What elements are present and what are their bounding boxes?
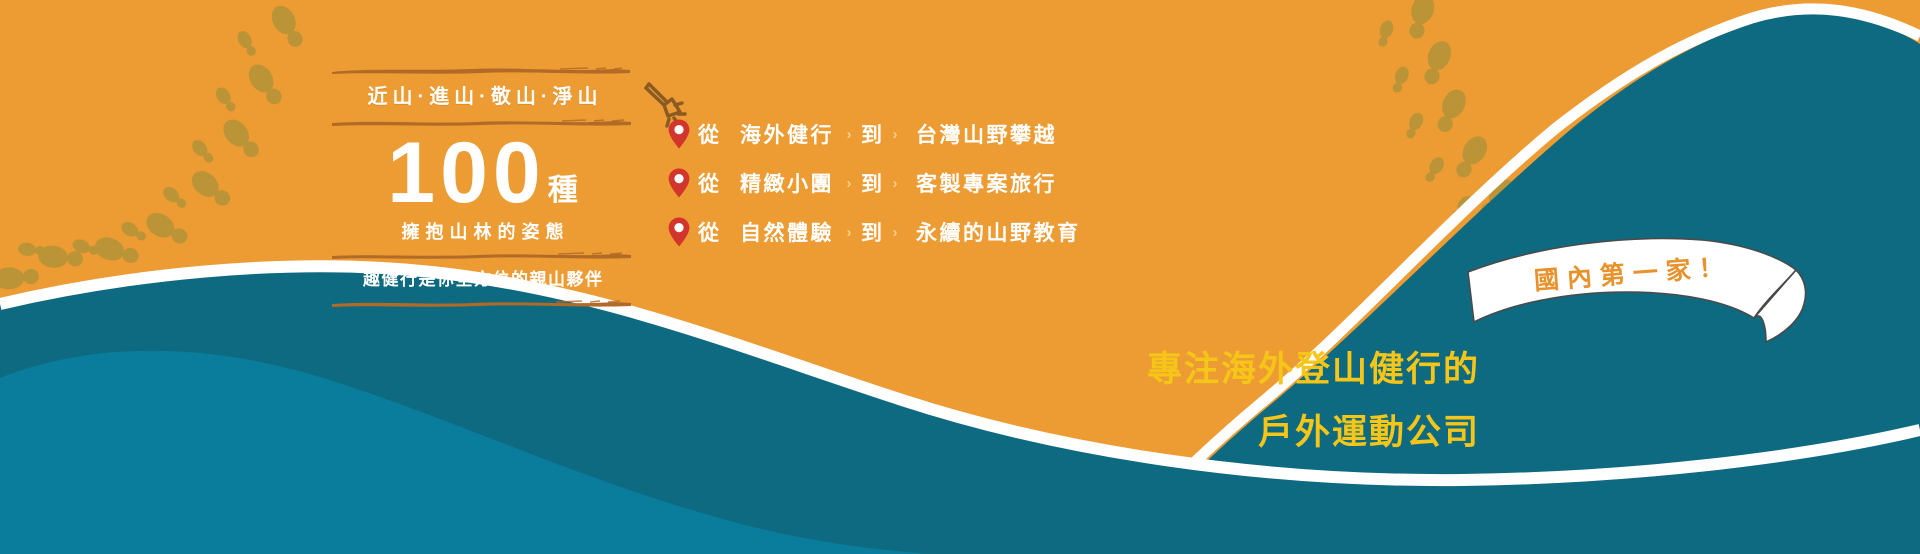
to-value: 客製專案旅行 [904, 168, 1057, 198]
to-label: 到 [858, 217, 886, 247]
count-number: 100 [387, 133, 546, 215]
brush-rule-mid [330, 118, 635, 127]
chevron-right-icon: › [840, 224, 858, 241]
headline-kicker: 近山·進山·敬山·淨山 [363, 75, 603, 118]
slogan-line-2: 戶外運動公司 [1060, 415, 1480, 450]
from-value: 海外健行 [728, 119, 840, 149]
chevron-right-icon: › [886, 224, 904, 241]
company-slogan: 專注海外登山健行的 戶外運動公司 [1060, 352, 1480, 450]
to-label: 到 [858, 119, 886, 149]
from-value: 自然體驗 [728, 217, 840, 247]
ribbon-badge: 國內第一家！ [1466, 226, 1811, 346]
count-unit: 種 [548, 176, 578, 215]
headline-tagline: 趣健行是你全方位的親山夥伴 [362, 260, 604, 288]
brush-rule-top [330, 66, 635, 75]
brush-rule-bottom [330, 299, 635, 308]
hero-banner: 近山·進山·敬山·淨山 100 種 擁抱山林的姿態 趣健行是你全方位的親山夥伴 [0, 0, 1920, 554]
chevron-right-icon: › [886, 126, 904, 143]
chevron-right-icon: › [840, 126, 858, 143]
brush-rule-lower [330, 251, 635, 260]
from-value: 精緻小團 [728, 168, 840, 198]
chevron-right-icon: › [840, 175, 858, 192]
from-label: 從 [698, 217, 728, 247]
to-value: 永續的山野教育 [904, 217, 1081, 247]
list-item[interactable]: 從 精緻小團 › 到 › 客製專案旅行 [668, 162, 1081, 204]
map-pin-icon [668, 168, 690, 198]
value-proposition-list: 從 海外健行 › 到 › 台灣山野攀越 從 精緻小團 › 到 › 客製專案旅行 [668, 113, 1081, 260]
map-pin-icon [668, 217, 690, 247]
from-label: 從 [698, 168, 728, 198]
list-item[interactable]: 從 海外健行 › 到 › 台灣山野攀越 [668, 113, 1081, 155]
map-pin-icon [668, 119, 690, 149]
headline-subline: 擁抱山林的姿態 [396, 217, 570, 251]
to-label: 到 [858, 168, 886, 198]
to-value: 台灣山野攀越 [904, 119, 1057, 149]
chevron-right-icon: › [886, 175, 904, 192]
headline-block: 近山·進山·敬山·淨山 100 種 擁抱山林的姿態 趣健行是你全方位的親山夥伴 [330, 66, 635, 308]
list-item[interactable]: 從 自然體驗 › 到 › 永續的山野教育 [668, 211, 1081, 253]
slogan-line-1: 專注海外登山健行的 [1060, 352, 1480, 387]
count-display: 100 種 [387, 127, 578, 217]
from-label: 從 [698, 119, 728, 149]
